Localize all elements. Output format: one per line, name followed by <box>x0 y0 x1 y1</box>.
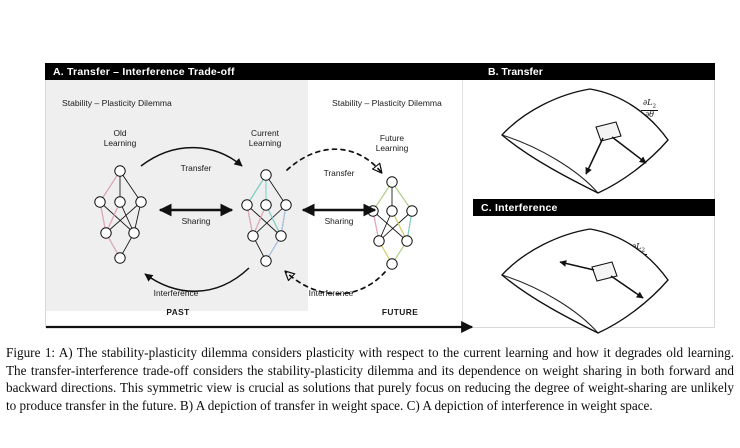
figure-container: A. Transfer – Interference Trade-off B. … <box>0 0 740 448</box>
panel-c-grad1-den: ∂θ <box>538 260 555 268</box>
panel-a-header: A. Transfer – Interference Trade-off <box>45 63 715 80</box>
panel-b-grad1-den: ∂θ <box>545 137 562 145</box>
panel-a-header-label: A. Transfer – Interference Trade-off <box>53 66 235 78</box>
past-region-shading <box>46 80 308 311</box>
network-label-current-line2: Learning <box>249 138 282 148</box>
stability-plasticity-label-left: Stability – Plasticity Dilemma <box>62 98 172 108</box>
stability-plasticity-label-right: Stability – Plasticity Dilemma <box>332 98 442 108</box>
transfer-label-left: Transfer <box>181 163 212 173</box>
network-label-current-line1: Current <box>251 128 279 138</box>
sharing-label-right: Sharing <box>325 216 354 226</box>
timeline-label-future: FUTURE <box>382 307 418 317</box>
panel-c-header: C. Interference <box>473 199 715 216</box>
network-label-future: Future Learning <box>376 133 409 154</box>
network-label-future-line2: Learning <box>376 143 409 153</box>
sharing-label-left: Sharing <box>182 216 211 226</box>
panel-c-gradient-l1: ∂L1 ∂θ <box>538 248 555 269</box>
timeline-label-past: PAST <box>166 307 189 317</box>
interference-label-left: Interference <box>154 288 199 298</box>
interference-label-right: Interference <box>309 288 354 298</box>
panel-b-gradient-l2: ∂L2 ∂θ <box>641 99 658 120</box>
panel-c-header-label: C. Interference <box>481 202 558 214</box>
panel-b-gradient-l1: ∂L1 ∂θ <box>545 125 562 146</box>
network-label-old-line2: Learning <box>104 138 137 148</box>
panel-c-grad2-den: ∂θ <box>630 255 647 263</box>
panel-b-grad2-den: ∂θ <box>641 111 658 119</box>
panel-b-header-label: B. Transfer <box>488 63 543 80</box>
network-label-old: Old Learning <box>104 128 137 149</box>
figure-caption: Figure 1: A) The stability-plasticity di… <box>6 344 734 415</box>
panel-c-gradient-l2: ∂L2 ∂θ <box>630 243 647 264</box>
network-label-current: Current Learning <box>249 128 282 149</box>
panel-divider <box>462 80 463 328</box>
network-label-future-line1: Future <box>380 133 404 143</box>
network-label-old-line1: Old <box>113 128 126 138</box>
transfer-label-right: Transfer <box>324 168 355 178</box>
